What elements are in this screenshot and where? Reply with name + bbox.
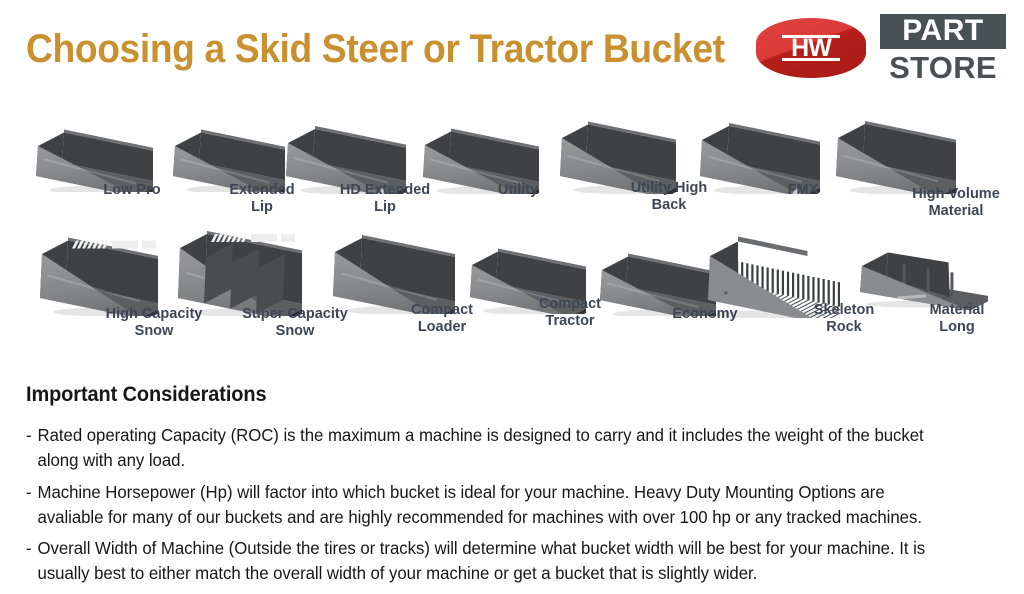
logo-bar-top xyxy=(782,35,840,38)
consideration-dash: - xyxy=(26,480,32,505)
infographic-page: Choosing a Skid Steer or Tractor Bucket … xyxy=(0,0,1024,594)
hw-logo-mark-icon: HW xyxy=(756,18,866,78)
bucket-gallery-row-2: High Capacity SnowSuper Capacity SnowCom… xyxy=(0,224,1024,352)
logo-hw-text: HW xyxy=(756,18,866,78)
consideration-text: Machine Horsepower (Hp) will factor into… xyxy=(38,480,948,530)
bucket-label: High Volume Material xyxy=(898,186,1014,220)
consideration-item: -Machine Horsepower (Hp) will factor int… xyxy=(26,480,948,530)
page-title: Choosing a Skid Steer or Tractor Bucket xyxy=(26,27,725,72)
important-considerations-section: Important Considerations -Rated operatin… xyxy=(26,383,986,593)
logo-word-part: PART xyxy=(880,14,1006,49)
hw-part-store-logo: HW PART STORE xyxy=(756,14,1006,86)
bucket-label: Low Pro xyxy=(92,182,172,199)
bucket-gallery-row-1: Low ProExtended LipHD Extended LipUtilit… xyxy=(0,108,1024,224)
consideration-dash: - xyxy=(26,423,32,448)
consideration-text: Overall Width of Machine (Outside the ti… xyxy=(38,536,948,586)
considerations-list: -Rated operating Capacity (ROC) is the m… xyxy=(26,423,986,586)
bucket-label: Material Long xyxy=(916,302,998,336)
consideration-dash: - xyxy=(26,536,32,561)
consideration-item: -Rated operating Capacity (ROC) is the m… xyxy=(26,423,948,473)
header: Choosing a Skid Steer or Tractor Bucket … xyxy=(0,0,1024,104)
considerations-heading: Important Considerations xyxy=(26,383,938,407)
logo-bar-bottom xyxy=(782,58,840,61)
logo-wordmark: PART STORE xyxy=(880,14,1006,84)
logo-word-store: STORE xyxy=(880,51,1006,84)
bucket-label: Utility xyxy=(478,182,558,199)
consideration-text: Rated operating Capacity (ROC) is the ma… xyxy=(38,423,948,473)
consideration-item: -Overall Width of Machine (Outside the t… xyxy=(26,536,948,586)
